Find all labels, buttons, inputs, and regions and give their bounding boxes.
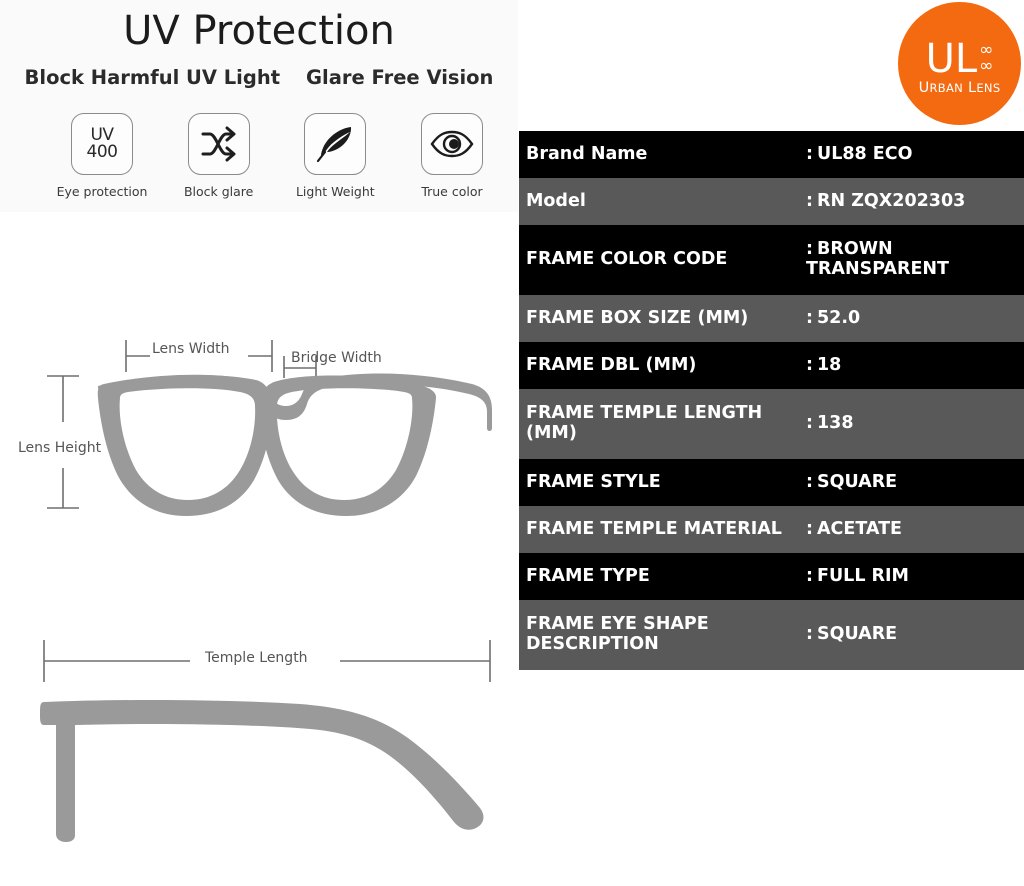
lens-width-label: Lens Width	[152, 341, 229, 357]
logo-mark: UL ∞ ∞	[926, 39, 994, 79]
spec-value-text: 138	[817, 413, 854, 433]
shuffle-arrows-icon	[188, 113, 250, 175]
spec-key-frame-dbl: FRAME DBL (MM)	[519, 356, 806, 376]
colon: :	[806, 413, 813, 433]
spec-value-text: SQUARE	[817, 624, 897, 644]
spec-value-text: UL88 ECO	[817, 144, 912, 164]
table-row: FRAME TYPE :FULL RIM	[519, 553, 1024, 600]
spec-value-text: RN ZQX202303	[817, 191, 965, 211]
feature-block-glare: Block glare	[169, 113, 269, 199]
infinity-bottom-icon: ∞	[979, 58, 993, 74]
colon: :	[806, 624, 813, 644]
table-row: FRAME BOX SIZE (MM) :52.0	[519, 295, 1024, 342]
frame-front-diagram	[0, 300, 518, 550]
feature-icon-row: UV 400 Eye protection	[52, 113, 502, 199]
table-row: FRAME COLOR CODE :BROWN TRANSPARENT	[519, 225, 1024, 295]
uv-banner-title: UV Protection	[0, 8, 518, 54]
uv-banner-subtitles: Block Harmful UV Light Glare Free Vision	[0, 66, 518, 89]
uv-subtitle-glare-free: Glare Free Vision	[306, 66, 493, 89]
feature-eye-protection: UV 400 Eye protection	[52, 113, 152, 199]
spec-key-frame-box-size: FRAME BOX SIZE (MM)	[519, 309, 806, 329]
uv400-icon: UV 400	[71, 113, 133, 175]
specification-table: Brand Name :UL88 ECO Model :RN ZQX202303…	[519, 131, 1024, 670]
bridge-width-label: Bridge Width	[291, 350, 382, 366]
colon: :	[806, 519, 813, 539]
spec-key-model: Model	[519, 192, 806, 212]
colon: :	[806, 191, 813, 211]
spec-value-frame-eye-shape-description: :SQUARE	[806, 625, 1024, 645]
logo-name-rban: RBAN	[929, 81, 963, 95]
colon: :	[806, 566, 813, 586]
spec-value-frame-type: :FULL RIM	[806, 567, 1024, 587]
spec-value-frame-dbl: :18	[806, 356, 1024, 376]
spec-value-text: 52.0	[817, 308, 860, 328]
spec-key-frame-temple-length: FRAME TEMPLE LENGTH (MM)	[519, 404, 806, 444]
logo-name-u: U	[919, 80, 930, 96]
feature-label-true-color: True color	[421, 184, 482, 199]
infinity-stack-icon: ∞ ∞	[979, 42, 993, 74]
feature-light-weight: Light Weight	[285, 113, 385, 199]
product-illustration-panel: UV Protection Block Harmful UV Light Gla…	[0, 0, 518, 886]
spec-value-text: SQUARE	[817, 472, 897, 492]
lens-height-label: Lens Height	[18, 440, 101, 456]
feature-label-eye-protection: Eye protection	[57, 184, 148, 199]
table-row: FRAME TEMPLE LENGTH (MM) :138	[519, 389, 1024, 459]
logo-brand-name: URBAN LENS	[919, 80, 1001, 96]
feature-true-color: True color	[402, 113, 502, 199]
colon: :	[806, 355, 813, 375]
spec-value-brand-name: :UL88 ECO	[806, 145, 1024, 165]
spec-value-frame-style: :SQUARE	[806, 473, 1024, 493]
spec-key-frame-eye-shape-description: FRAME EYE SHAPE DESCRIPTION	[519, 615, 806, 655]
colon: :	[806, 144, 813, 164]
table-row: Model :RN ZQX202303	[519, 178, 1024, 225]
table-row: FRAME STYLE :SQUARE	[519, 459, 1024, 506]
table-row: FRAME EYE SHAPE DESCRIPTION :SQUARE	[519, 600, 1024, 670]
spec-value-frame-temple-length: :138	[806, 414, 1024, 434]
uv-protection-banner: UV Protection Block Harmful UV Light Gla…	[0, 0, 518, 212]
colon: :	[806, 239, 813, 259]
spec-value-text: ACETATE	[817, 519, 902, 539]
brand-logo[interactable]: UL ∞ ∞ URBAN LENS	[898, 2, 1021, 125]
right-lens-rim	[260, 376, 436, 517]
temple-length-label: Temple Length	[205, 650, 308, 666]
feature-label-light-weight: Light Weight	[296, 184, 375, 199]
logo-name-ens: ENS	[976, 81, 1000, 95]
spec-key-frame-type: FRAME TYPE	[519, 567, 806, 587]
spec-value-text: BROWN TRANSPARENT	[806, 239, 949, 279]
colon: :	[806, 472, 813, 492]
uv-subtitle-block-uv: Block Harmful UV Light	[25, 66, 281, 89]
spec-value-model: :RN ZQX202303	[806, 192, 1024, 212]
colon: :	[806, 308, 813, 328]
spec-key-frame-color-code: FRAME COLOR CODE	[519, 250, 806, 270]
left-lens-rim	[98, 375, 272, 516]
feature-label-block-glare: Block glare	[184, 184, 253, 199]
spec-key-brand-name: Brand Name	[519, 145, 806, 165]
spec-key-frame-style: FRAME STYLE	[519, 473, 806, 493]
spec-value-frame-temple-material: :ACETATE	[806, 520, 1024, 540]
table-row: FRAME TEMPLE MATERIAL :ACETATE	[519, 506, 1024, 553]
table-row: Brand Name :UL88 ECO	[519, 131, 1024, 178]
temple-arm-shape	[40, 700, 483, 842]
spec-value-frame-box-size: :52.0	[806, 309, 1024, 329]
spec-value-text: 18	[817, 355, 841, 375]
logo-initials: UL	[926, 39, 978, 79]
eye-icon	[421, 113, 483, 175]
spec-value-text: FULL RIM	[817, 566, 909, 586]
table-row: FRAME DBL (MM) :18	[519, 342, 1024, 389]
spec-value-frame-color-code: :BROWN TRANSPARENT	[806, 240, 1024, 280]
uv400-line2: 400	[87, 144, 118, 161]
spec-key-frame-temple-material: FRAME TEMPLE MATERIAL	[519, 520, 806, 540]
feather-icon	[304, 113, 366, 175]
